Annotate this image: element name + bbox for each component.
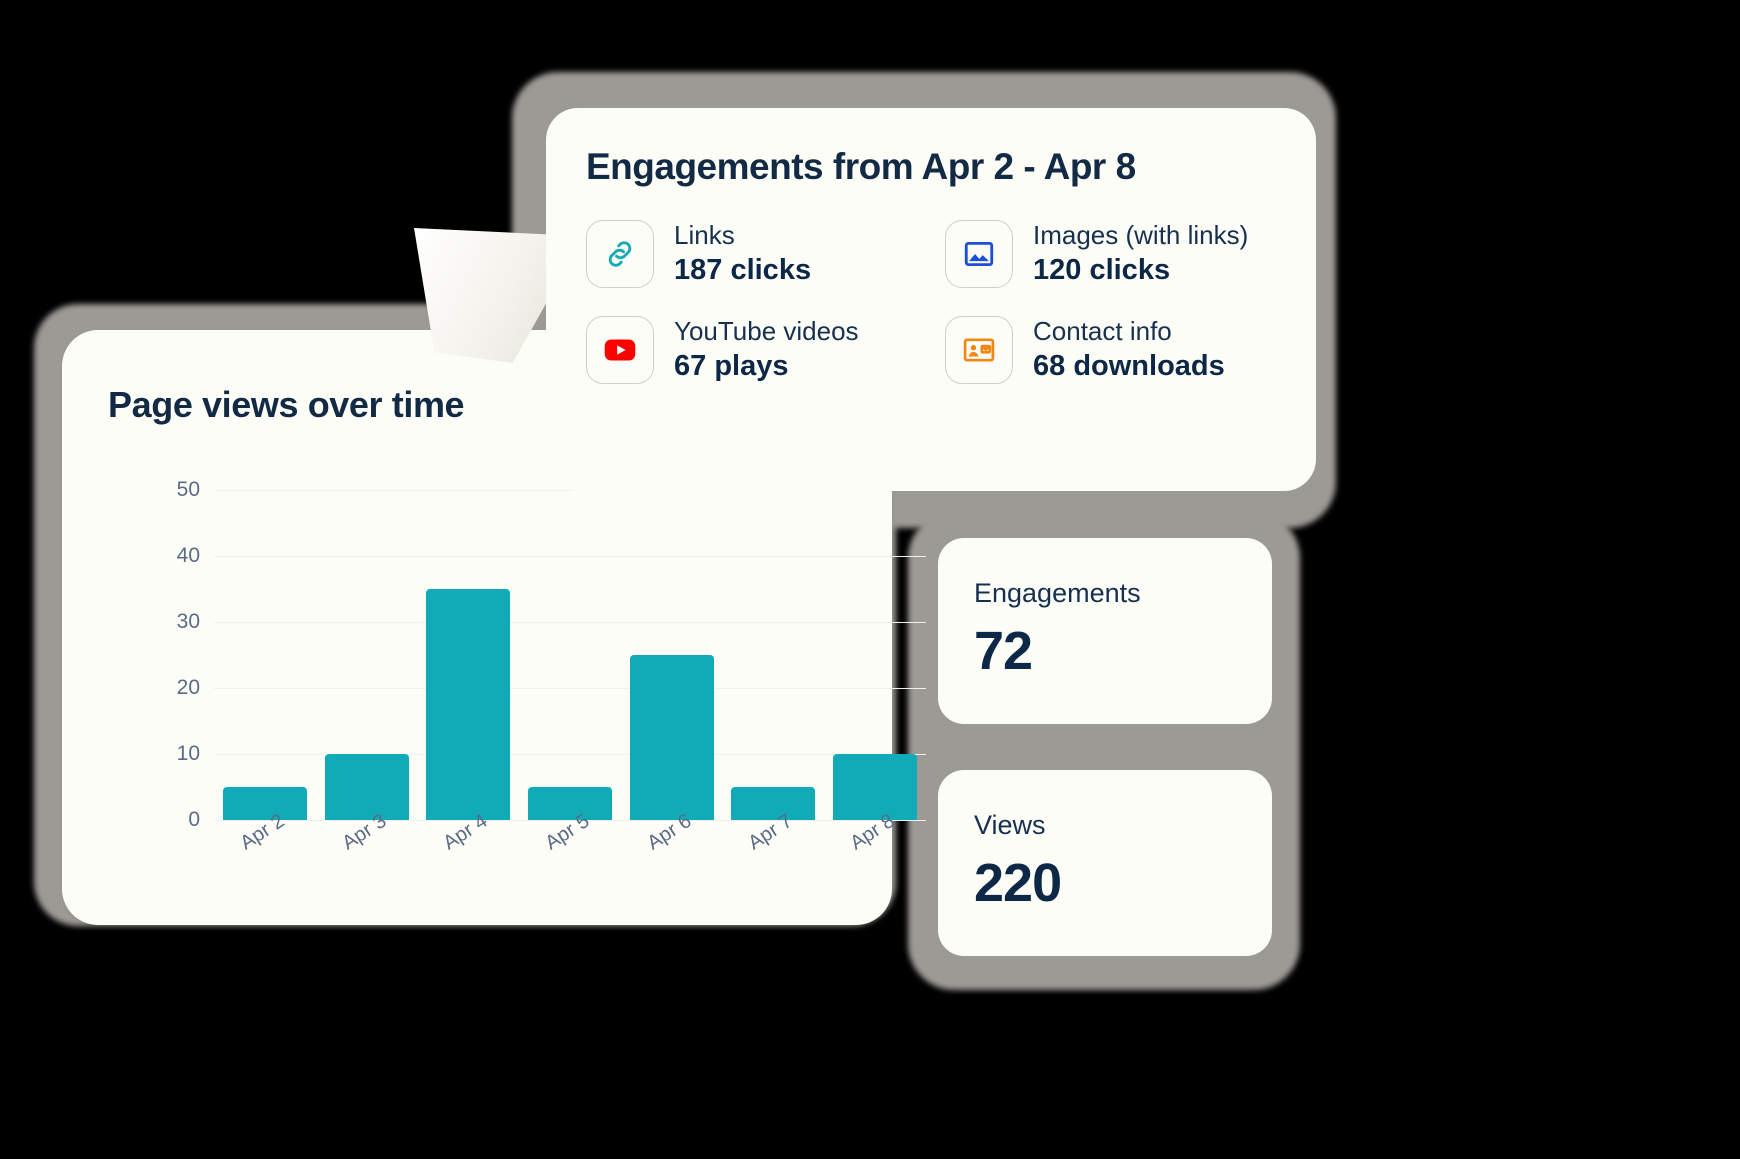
chart-y-tick: 0 (188, 808, 200, 832)
chart-bar[interactable] (630, 655, 714, 820)
engagements-panel-title: Engagements from Apr 2 - Apr 8 (586, 146, 1136, 188)
engagements-item-grid: Links187 clicksImages (with links)120 cl… (586, 220, 1286, 384)
chart-bar-slot (316, 490, 418, 820)
engagement-item-links[interactable]: Links187 clicks (586, 220, 927, 288)
chart-x-axis-labels: Apr 2Apr 3Apr 4Apr 5Apr 6Apr 7Apr 8 (214, 830, 926, 910)
engagement-item-label: YouTube videos (674, 317, 859, 347)
chart-x-slot: Apr 4 (417, 830, 519, 910)
chart-bar-slot (519, 490, 621, 820)
stat-card-views: Views 220 (938, 770, 1272, 956)
engagement-item-value: 120 clicks (1033, 253, 1248, 288)
image-icon (945, 220, 1013, 288)
link-icon (586, 220, 654, 288)
engagement-item-label: Links (674, 221, 811, 251)
chart-bar[interactable] (426, 589, 510, 820)
stat-card-engagements: Engagements 72 (938, 538, 1272, 724)
engagement-item-images-with-links[interactable]: Images (with links)120 clicks (945, 220, 1286, 288)
engagement-item-label: Contact info (1033, 317, 1225, 347)
engagement-item-value: 68 downloads (1033, 349, 1225, 384)
chart-x-slot: Apr 8 (824, 830, 926, 910)
chart-x-slot: Apr 7 (723, 830, 825, 910)
youtube-icon (586, 316, 654, 384)
stat-value-views: 220 (974, 852, 1061, 914)
engagement-item-contact-info[interactable]: Contact info68 downloads (945, 316, 1286, 384)
engagements-panel: Engagements from Apr 2 - Apr 8 Links187 … (546, 108, 1316, 491)
chart-bar-slot (824, 490, 926, 820)
chart-bar-slot (417, 490, 519, 820)
chart-bar-slot (723, 490, 825, 820)
stat-label-engagements: Engagements (974, 578, 1141, 609)
engagement-item-value: 187 clicks (674, 253, 811, 288)
engagement-item-text: YouTube videos67 plays (674, 317, 859, 384)
screenshot-stage: Page views over time 01020304050 Apr 2Ap… (0, 0, 1740, 1159)
chart-bar[interactable] (223, 787, 307, 820)
chart-bar[interactable] (731, 787, 815, 820)
chart-x-slot: Apr 2 (214, 830, 316, 910)
engagement-item-text: Contact info68 downloads (1033, 317, 1225, 384)
chart-bars (214, 490, 926, 820)
chart-y-tick: 30 (177, 610, 200, 634)
chart-y-tick: 40 (177, 544, 200, 568)
page-views-title: Page views over time (108, 384, 464, 426)
chart-y-tick: 20 (177, 676, 200, 700)
engagement-item-text: Links187 clicks (674, 221, 811, 288)
chart-y-tick: 10 (177, 742, 200, 766)
chart-x-slot: Apr 5 (519, 830, 621, 910)
engagement-item-youtube-videos[interactable]: YouTube videos67 plays (586, 316, 927, 384)
chart-x-slot: Apr 3 (316, 830, 418, 910)
bar-chart-plot-area: 01020304050 (214, 490, 926, 820)
stat-label-views: Views (974, 810, 1046, 841)
engagement-item-value: 67 plays (674, 349, 859, 384)
chart-bar[interactable] (325, 754, 409, 820)
chart-bar-slot (621, 490, 723, 820)
chart-bar[interactable] (528, 787, 612, 820)
chart-bar-slot (214, 490, 316, 820)
engagement-item-text: Images (with links)120 clicks (1033, 221, 1248, 288)
chart-bar[interactable] (833, 754, 917, 820)
engagement-item-label: Images (with links) (1033, 221, 1248, 251)
contact-card-icon (945, 316, 1013, 384)
chart-y-tick: 50 (177, 478, 200, 502)
chart-x-slot: Apr 6 (621, 830, 723, 910)
stat-value-engagements: 72 (974, 620, 1032, 682)
